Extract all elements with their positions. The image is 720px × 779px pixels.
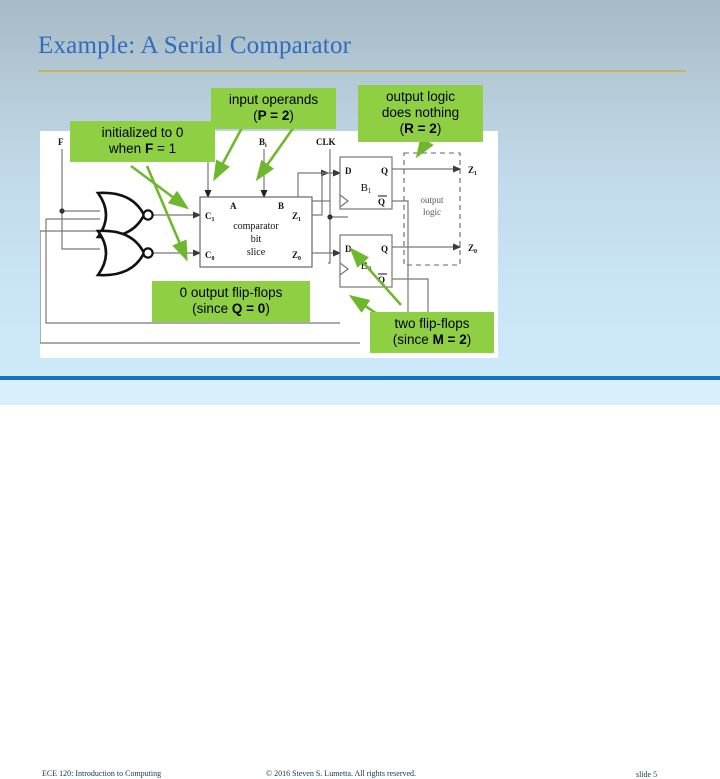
- title-divider: [38, 70, 686, 72]
- page-title: Example: A Serial Comparator: [38, 32, 351, 60]
- ff1-pin-qbar: Q: [378, 197, 385, 207]
- callout-zero-line1: 0 output flip-flops: [159, 285, 303, 301]
- slide-canvas: Example: A Serial Comparator: [0, 0, 720, 405]
- comparator-title-line3: slice: [247, 247, 266, 258]
- callout-input-line1: input operands: [218, 92, 329, 108]
- callout-initialized: initialized to 0 when F = 1: [70, 121, 215, 162]
- ff0-pin-d: D: [345, 244, 352, 254]
- callout-two-line2: (since M = 2): [377, 332, 487, 348]
- footer-copyright: © 2016 Steven S. Lumetta. All rights res…: [266, 769, 416, 778]
- footer-course: ECE 120: Introduction to Computing: [42, 769, 161, 778]
- callout-output-line1: output logic: [365, 89, 476, 105]
- ff1-pin-d: D: [345, 166, 352, 176]
- ff1-pin-q: Q: [381, 166, 388, 176]
- callout-output-line3: (R = 2): [365, 121, 476, 137]
- callout-input-operands: input operands (P = 2): [211, 88, 336, 129]
- output-z0: Z0: [468, 243, 477, 255]
- output-logic-line2: logic: [423, 207, 441, 217]
- callout-output-line2: does nothing: [365, 105, 476, 121]
- pin-a: A: [230, 201, 237, 211]
- junction-dot: [59, 208, 64, 213]
- ff0-pin-qbar: Q: [378, 275, 385, 285]
- ff0-pin-q: Q: [381, 244, 388, 254]
- callout-input-line2: (P = 2): [218, 108, 329, 124]
- nor-gate: [98, 231, 153, 275]
- output-z1: Z1: [468, 165, 477, 177]
- label-input-b: Bi: [259, 137, 267, 149]
- callout-zero-line2: (since Q = 0): [159, 301, 303, 317]
- callout-two-line1: two flip-flops: [377, 316, 487, 332]
- comparator-title-line2: bit: [251, 234, 262, 245]
- junction-dot: [327, 214, 332, 219]
- footer: ECE 120: Introduction to Computing © 201…: [0, 380, 720, 405]
- callout-two-flipflops: two flip-flops (since M = 2): [370, 312, 494, 353]
- comparator-title-line1: comparator: [233, 221, 279, 232]
- footer-slide-number: slide 5: [636, 770, 657, 779]
- pin-b: B: [278, 201, 284, 211]
- label-input-clk: CLK: [316, 137, 336, 147]
- label-input-f: F: [58, 137, 64, 147]
- callout-output-logic: output logic does nothing (R = 2): [358, 85, 483, 142]
- output-logic-line1: output: [420, 195, 444, 205]
- callout-initialized-line2: when F = 1: [77, 141, 208, 157]
- callout-initialized-line1: initialized to 0: [77, 125, 208, 141]
- callout-zero-output-flipflops: 0 output flip-flops (since Q = 0): [152, 281, 310, 322]
